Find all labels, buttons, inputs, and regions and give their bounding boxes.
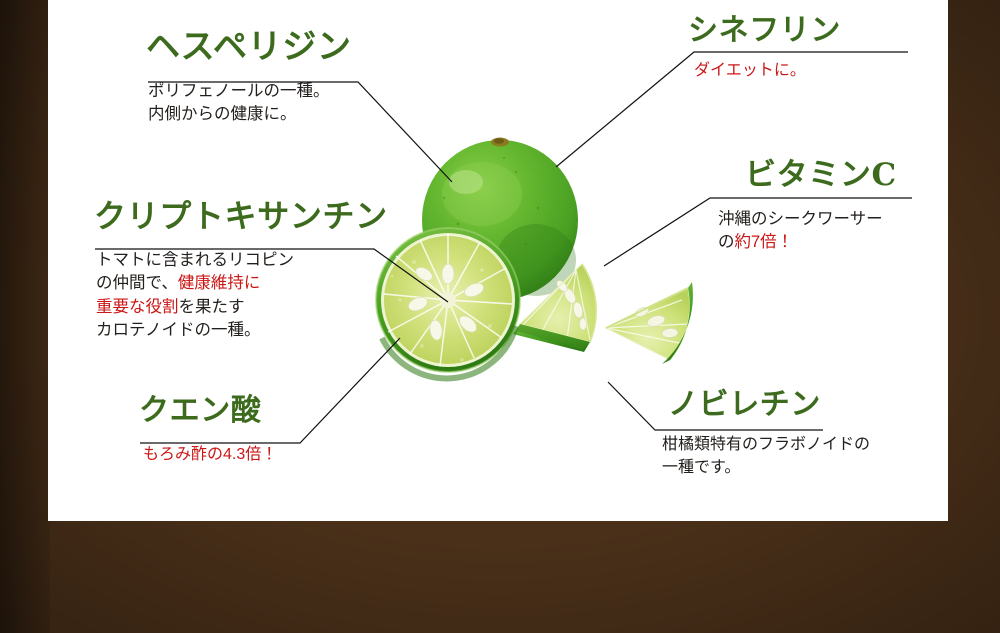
emphasis-text: 重要な役割 xyxy=(96,298,179,316)
infographic-stage: ヘスペリジン ポリフェノールの一種。内側からの健康に。 クリプトキサンチン トマ… xyxy=(0,0,1000,633)
citrus-artwork xyxy=(370,128,730,398)
text-line: もろみ酢の4.3倍！ xyxy=(143,444,277,467)
text-line: 沖縄のシークワーサー xyxy=(718,208,883,231)
emphasis-text: 健康維持に xyxy=(178,274,261,292)
callout-nobiletin-heading: ノビレチン xyxy=(668,390,870,420)
callout-synephrine: シネフリン ダイエットに。 xyxy=(688,16,841,83)
callout-cryptoxanthin-heading: クリプトキサンチン xyxy=(94,200,388,232)
callout-hesperidin-heading: ヘスペリジン xyxy=(146,30,352,64)
callout-hesperidin-body: ポリフェノールの一種。内側からの健康に。 xyxy=(148,80,352,127)
halved-lime xyxy=(376,228,520,378)
callout-synephrine-heading: シネフリン xyxy=(688,16,841,46)
callout-vitamin-c-heading: ビタミンC xyxy=(745,160,897,191)
callout-citric-acid: クエン酸 もろみ酢の4.3倍！ xyxy=(139,396,277,467)
callout-nobiletin: ノビレチン 柑橘類特有のフラボノイドの一種です。 xyxy=(668,390,870,479)
plain-text: 一種です。 xyxy=(662,459,740,476)
emphasis-text: 約7倍！ xyxy=(735,233,794,251)
callout-hesperidin: ヘスペリジン ポリフェノールの一種。内側からの健康に。 xyxy=(146,30,352,127)
plain-text: 沖縄のシークワーサー xyxy=(718,210,883,228)
lime-wedge-right xyxy=(606,282,693,372)
emphasis-text: ダイエットに。 xyxy=(694,62,806,79)
text-line: 一種です。 xyxy=(662,457,870,480)
text-line: カロテノイドの一種。 xyxy=(96,319,388,342)
callout-citric-acid-heading: クエン酸 xyxy=(139,396,277,426)
text-line: ポリフェノールの一種。 xyxy=(148,80,352,103)
callout-nobiletin-body: 柑橘類特有のフラボノイドの一種です。 xyxy=(662,434,870,479)
text-line: の約7倍！ xyxy=(718,231,883,254)
plain-text: の仲間で、 xyxy=(96,274,178,292)
text-line: 柑橘類特有のフラボノイドの xyxy=(662,434,870,457)
emphasis-text: もろみ酢の4.3倍！ xyxy=(143,446,277,463)
text-line: の仲間で、健康維持に xyxy=(96,272,388,295)
plain-text: を果たす xyxy=(179,298,245,316)
plain-text: トマトに含まれるリコピン xyxy=(96,251,294,269)
callout-vitamin-c-body: 沖縄のシークワーサーの約7倍！ xyxy=(718,208,883,255)
callout-synephrine-body: ダイエットに。 xyxy=(694,60,841,83)
callout-vitamin-c-body-wrap: 沖縄のシークワーサーの約7倍！ xyxy=(718,208,883,255)
plain-text: 内側からの健康に。 xyxy=(148,105,297,123)
text-line: 内側からの健康に。 xyxy=(148,103,352,126)
callout-cryptoxanthin-body: トマトに含まれるリコピンの仲間で、健康維持に重要な役割を果たすカロテノイドの一種… xyxy=(96,249,388,343)
text-line: 重要な役割を果たす xyxy=(96,296,388,319)
plain-text: 柑橘類特有のフラボノイドの xyxy=(662,436,870,453)
plain-text: ポリフェノールの一種。 xyxy=(148,82,330,100)
text-line: ダイエットに。 xyxy=(694,60,841,83)
text-line: トマトに含まれるリコピン xyxy=(96,249,388,272)
callout-cryptoxanthin: クリプトキサンチン トマトに含まれるリコピンの仲間で、健康維持に重要な役割を果た… xyxy=(94,200,388,343)
callout-vitamin-c: ビタミンC xyxy=(745,160,897,191)
plain-text: カロテノイドの一種。 xyxy=(96,321,261,339)
plain-text: の xyxy=(718,233,735,251)
callout-citric-acid-body: もろみ酢の4.3倍！ xyxy=(143,444,277,467)
